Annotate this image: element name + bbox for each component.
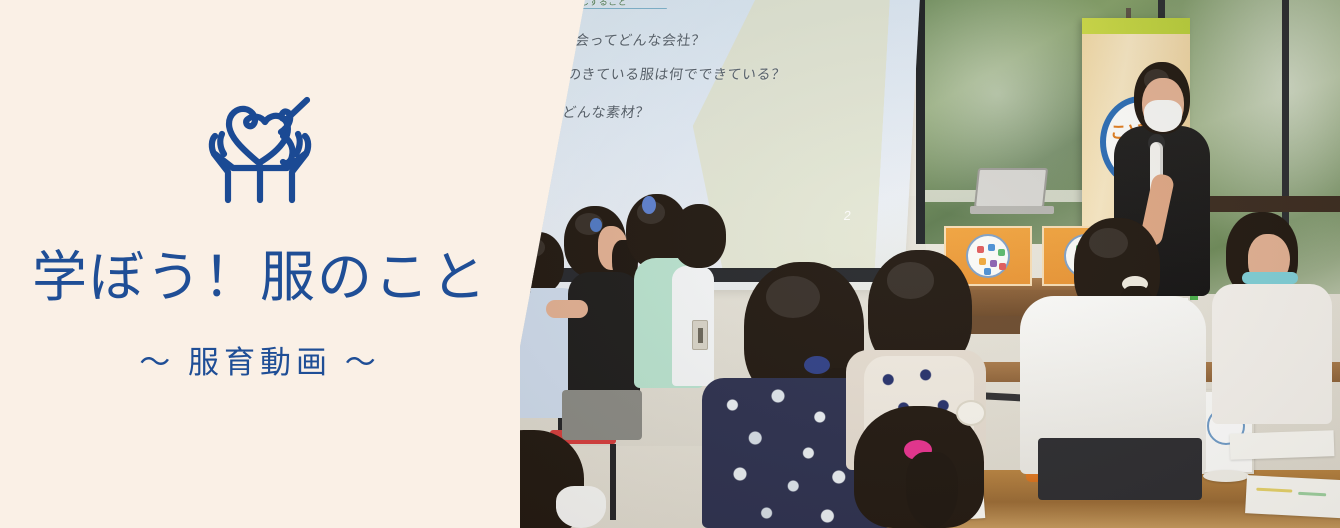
slide-bullet-1: 三陽商会ってどんな会社？ — [530, 30, 707, 50]
banner-top-stripe — [1082, 18, 1190, 34]
laptop-screen — [974, 168, 1048, 208]
hair-highlight-6 — [887, 262, 934, 299]
adult-trousers-right — [1038, 438, 1202, 500]
board-circle-graphic — [966, 234, 1010, 278]
classroom-workshop-photo: おはなしすること 三陽商会ってどんな会社？ みんなのきている服は何でできている？… — [486, 0, 1340, 528]
child-head-4 — [672, 204, 726, 268]
hands-holding-heart-with-needle-logo — [195, 78, 325, 208]
child-body-far-right — [1212, 284, 1332, 424]
slide-heading-underline — [547, 8, 667, 9]
slide-text-block: おはなしすること 三陽商会ってどんな会社？ みんなのきている服は何でできている？… — [517, 0, 879, 8]
laptop-base — [970, 206, 1054, 214]
wall-switch — [692, 320, 708, 350]
slide-bullet-2: みんなのきている服は何でできている？ — [522, 64, 787, 84]
worksheet-paper-2 — [1245, 475, 1340, 519]
slide-heading: おはなしすること — [517, 0, 879, 8]
hair-clip-3 — [642, 196, 656, 214]
page-title: 学ぼう！服のこと — [32, 248, 488, 309]
slide-bullet-3: 綿ってどんな素材？ — [518, 102, 651, 122]
hair-highlight-5 — [766, 276, 820, 318]
hero-left-panel: 学ぼう！服のこと 〜 服育動画 〜 — [0, 0, 520, 528]
child-body-2 — [568, 272, 640, 408]
presenter-face-mask — [1144, 100, 1182, 132]
child-arm-2 — [546, 300, 588, 318]
child-face-mask-bottom-left — [556, 486, 606, 528]
lanyard-far-right — [1242, 272, 1298, 284]
chair-leg-2 — [610, 444, 616, 520]
hair-highlight-1 — [521, 238, 544, 257]
hair-highlight-8 — [1089, 228, 1128, 258]
page-subtitle: 〜 服育動画 〜 — [139, 337, 381, 382]
worksheet-paper-3 — [1230, 430, 1335, 460]
sign-base-2 — [1203, 470, 1249, 482]
hair-accessory-7 — [956, 400, 986, 426]
board-dots — [968, 236, 1008, 276]
child-shorts-2 — [562, 390, 642, 440]
hero-banner: おはなしすること 三陽商会ってどんな会社？ みんなのきている服は何でできている？… — [0, 0, 1340, 528]
child-ponytail-7 — [906, 452, 958, 528]
hair-clip-2 — [590, 218, 602, 232]
